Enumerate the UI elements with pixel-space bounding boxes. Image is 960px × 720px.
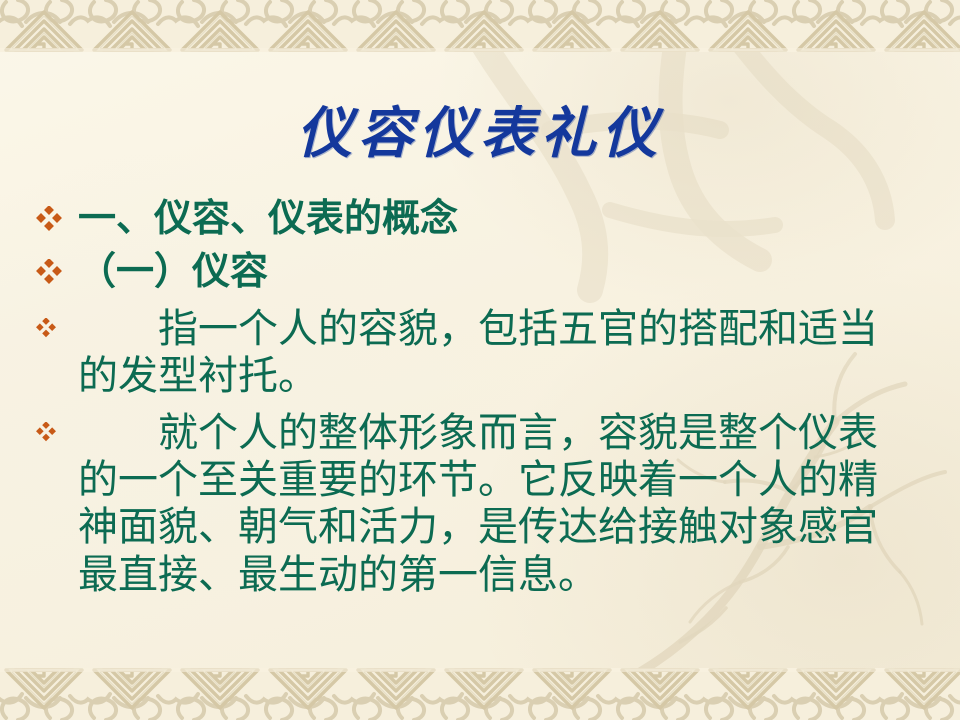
diamond-cluster-bullet-icon	[36, 306, 78, 338]
list-item[interactable]: 一、仪容、仪表的概念	[36, 196, 916, 241]
bullet-list: 一、仪容、仪表的概念 （一）仪容	[36, 196, 916, 601]
presentation-slide: 仪容仪表礼仪 一、仪容、仪表的概念	[0, 0, 960, 720]
list-item-text: （一）仪容	[78, 249, 916, 294]
list-item-text: 指一个人的容貌，包括五官的搭配和适当的发型衬托。	[78, 306, 916, 400]
diamond-cluster-bullet-icon	[36, 410, 78, 442]
list-item-text: 一、仪容、仪表的概念	[78, 196, 916, 241]
diamond-cluster-bullet-icon	[36, 196, 78, 232]
list-item[interactable]: 就个人的整体形象而言，容貌是整个仪表的一个至关重要的环节。它反映着一个人的精神面…	[36, 410, 916, 599]
diamond-cluster-bullet-icon	[36, 249, 78, 285]
slide-title: 仪容仪表礼仪	[0, 88, 960, 168]
list-item[interactable]: （一）仪容	[36, 249, 916, 294]
list-item-text: 就个人的整体形象而言，容貌是整个仪表的一个至关重要的环节。它反映着一个人的精神面…	[78, 410, 916, 599]
list-item[interactable]: 指一个人的容貌，包括五官的搭配和适当的发型衬托。	[36, 306, 916, 400]
